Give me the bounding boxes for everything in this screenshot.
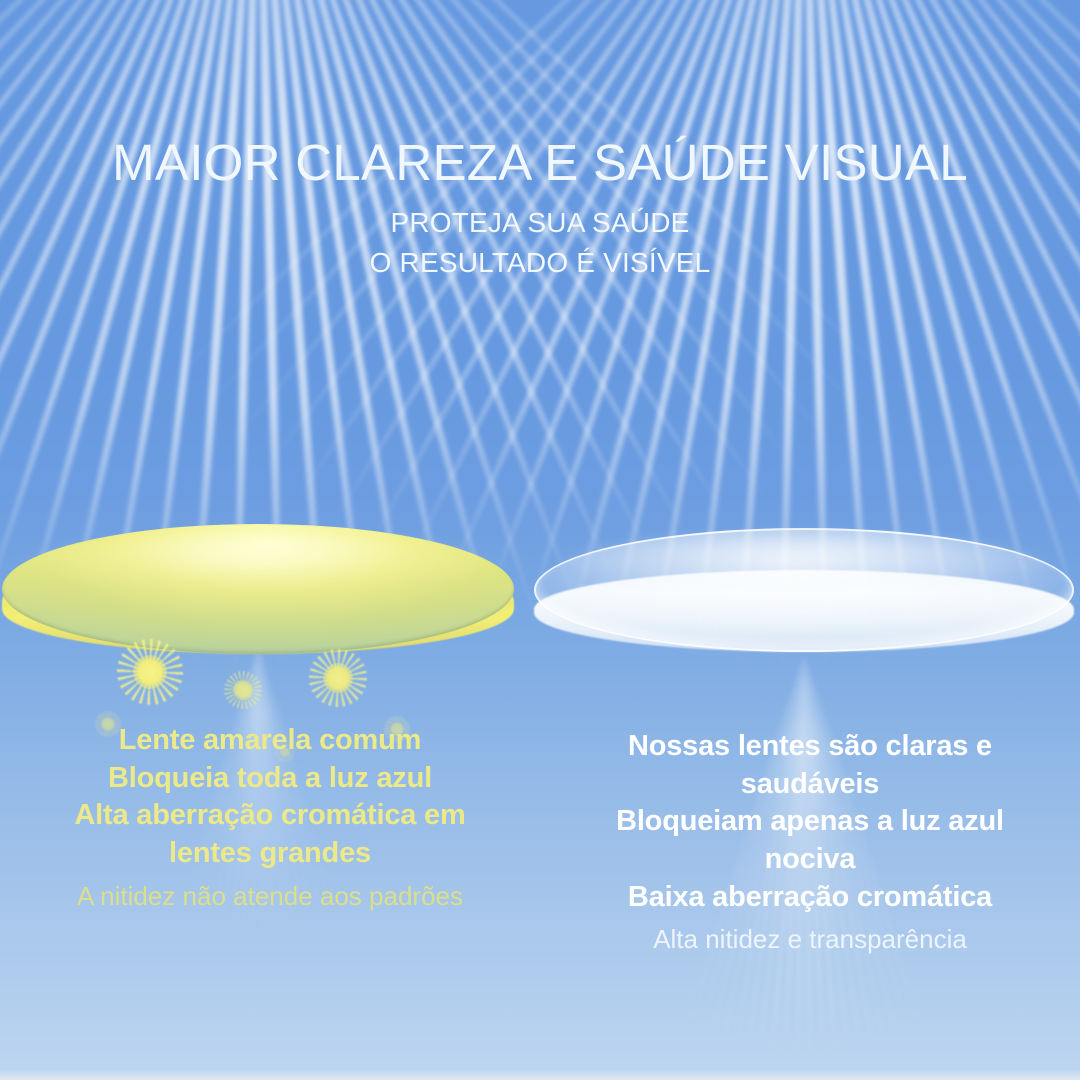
feature-columns: Lente amarela comum Bloqueia toda a luz … bbox=[0, 722, 1080, 957]
column-yellow-lens: Lente amarela comum Bloqueia toda a luz … bbox=[0, 722, 540, 957]
page-title: MAIOR CLAREZA E SAÚDE VISUAL bbox=[0, 134, 1080, 191]
column-clear-lens: Nossas lentes são claras e saudáveis Blo… bbox=[540, 722, 1080, 957]
sun-spark-icon bbox=[323, 663, 353, 693]
right-bold-line-2: saudáveis bbox=[552, 766, 1068, 804]
subtitle-line-1: PROTEJA SUA SAÚDE bbox=[0, 203, 1080, 243]
right-bold-line-1: Nossas lentes são claras e bbox=[552, 728, 1068, 766]
left-soft-line: A nitidez não atende aos padrões bbox=[12, 879, 528, 914]
left-bold-line-3: Alta aberração cromática em bbox=[12, 797, 528, 835]
sun-spark-icon bbox=[133, 655, 167, 689]
left-bold-line-1: Lente amarela comum bbox=[12, 722, 528, 760]
subtitle-line-2: O RESULTADO É VISÍVEL bbox=[0, 243, 1080, 283]
promo-banner: MAIOR CLAREZA E SAÚDE VISUAL PROTEJA SUA… bbox=[0, 0, 1080, 1080]
right-bold-line-3: Bloqueiam apenas a luz azul bbox=[552, 803, 1068, 841]
left-bold-line-2: Bloqueia toda a luz azul bbox=[12, 760, 528, 798]
right-bold-line-4: nociva bbox=[552, 841, 1068, 879]
header: MAIOR CLAREZA E SAÚDE VISUAL PROTEJA SUA… bbox=[0, 134, 1080, 283]
yellow-lens-highlight-icon bbox=[22, 534, 492, 596]
clear-lens-highlight-icon bbox=[560, 536, 1048, 592]
sun-spark-icon bbox=[233, 680, 253, 700]
left-bold-line-4: lentes grandes bbox=[12, 835, 528, 873]
right-soft-line: Alta nitidez e transparência bbox=[552, 922, 1068, 957]
right-bold-line-5: Baixa aberração cromática bbox=[552, 879, 1068, 917]
